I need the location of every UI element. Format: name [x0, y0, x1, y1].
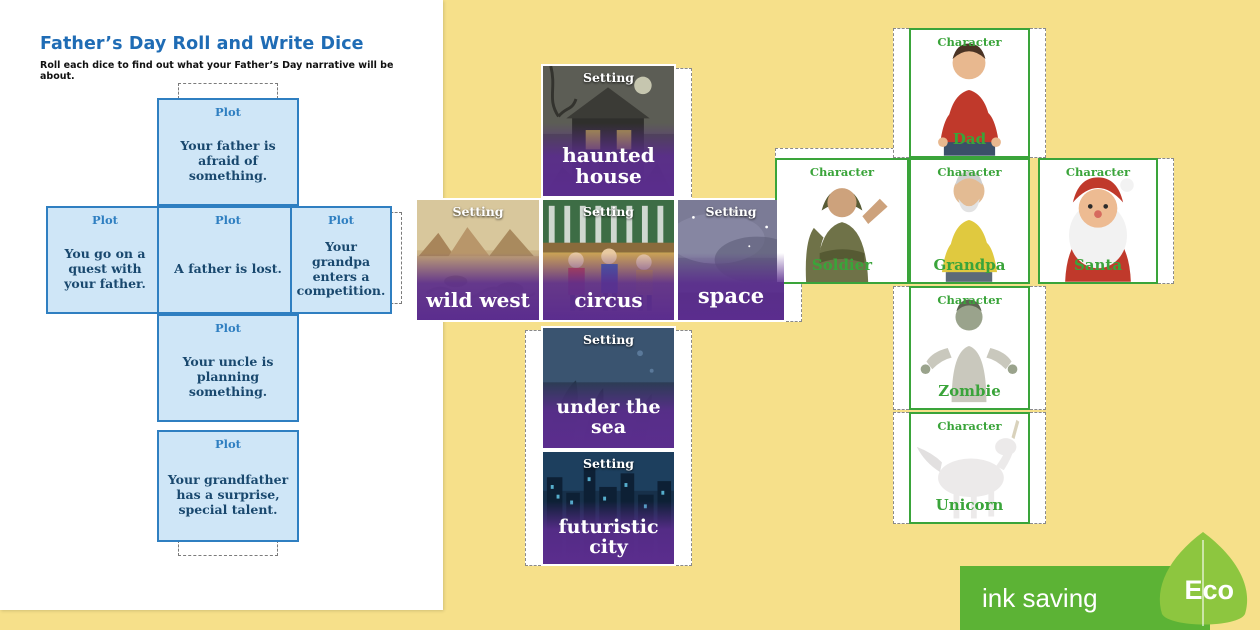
setting-face-futuristic-city: Setting futuristic city	[541, 450, 676, 566]
setting-face-header: Setting	[543, 70, 674, 85]
plot-face-bottom-2: Plot Your grandfather has a surprise, sp…	[157, 430, 299, 542]
setting-face-header: Setting	[678, 204, 784, 219]
character-face-caption: Dad	[911, 130, 1028, 148]
plot-face-header: Plot	[159, 208, 297, 227]
glue-tab	[178, 540, 278, 556]
character-face-soldier: Character Soldier	[775, 158, 909, 284]
page-title: Father’s Day Roll and Write Dice	[40, 34, 420, 54]
plot-face-middle: Plot A father is lost.	[157, 206, 299, 314]
glue-tab	[676, 330, 692, 566]
plot-face-right: Plot Your grandpa enters a competition.	[290, 206, 392, 314]
character-face-dad: Character Dad	[909, 28, 1030, 158]
setting-face-caption: circus	[543, 290, 674, 312]
character-face-caption: Santa	[1040, 256, 1156, 274]
glue-tab	[1158, 158, 1174, 284]
plot-face-header: Plot	[48, 208, 162, 227]
plot-face-text: You go on a quest with your father.	[48, 227, 162, 312]
character-face-caption: Grandpa	[911, 256, 1028, 274]
setting-face-caption: under the sea	[543, 397, 674, 438]
plot-face-text: Your father is afraid of something.	[159, 119, 297, 204]
setting-face-header: Setting	[543, 204, 674, 219]
page-subtitle: Roll each dice to find out what your Fat…	[40, 60, 430, 82]
glue-tab	[893, 412, 909, 524]
setting-face-header: Setting	[543, 332, 674, 347]
plot-face-bottom: Plot Your uncle is planning something.	[157, 314, 299, 422]
character-face-caption: Unicorn	[911, 496, 1028, 514]
character-face-santa: Character Santa	[1038, 158, 1158, 284]
eco-badge-text: ink saving	[982, 583, 1098, 614]
eco-badge-word: Eco	[1184, 575, 1234, 606]
setting-face-caption: wild west	[417, 290, 539, 312]
character-face-header: Character	[777, 165, 907, 179]
plot-dice-sheet: Father’s Day Roll and Write Dice Roll ea…	[0, 0, 443, 610]
setting-face-caption: space	[678, 285, 784, 308]
character-face-zombie: Character Zombie	[909, 286, 1030, 410]
setting-face-header: Setting	[417, 204, 539, 219]
setting-face-caption: futuristic city	[543, 517, 674, 558]
plot-face-header: Plot	[159, 316, 297, 335]
eco-badge: ink saving Eco	[960, 530, 1260, 630]
setting-face-space: Setting space	[676, 198, 786, 322]
plot-face-top: Plot Your father is afraid of something.	[157, 98, 299, 206]
setting-face-under-the-sea: Setting under the sea	[541, 326, 676, 450]
character-face-grandpa: Character Grandpa	[909, 158, 1030, 284]
plot-face-header: Plot	[159, 432, 297, 451]
glue-tab	[178, 83, 278, 99]
character-face-unicorn: Character Unicorn	[909, 412, 1030, 524]
glue-tab	[1030, 28, 1046, 158]
plot-face-header: Plot	[292, 208, 390, 227]
plot-face-left: Plot You go on a quest with your father.	[46, 206, 164, 314]
glue-tab	[893, 28, 909, 158]
character-face-header: Character	[911, 419, 1028, 433]
character-face-header: Character	[1040, 165, 1156, 179]
glue-tab	[893, 286, 909, 410]
character-face-header: Character	[911, 165, 1028, 179]
character-face-caption: Zombie	[911, 382, 1028, 400]
setting-face-circus: Setting circus	[541, 198, 676, 322]
setting-face-caption: haunted house	[543, 145, 674, 188]
glue-tab	[1030, 412, 1046, 524]
setting-face-haunted-house: Setting haunted house	[541, 64, 676, 198]
character-face-header: Character	[911, 35, 1028, 49]
plot-face-header: Plot	[159, 100, 297, 119]
character-face-caption: Soldier	[777, 256, 907, 274]
plot-face-text: Your grandfather has a surprise, special…	[159, 451, 297, 540]
plot-face-text: A father is lost.	[169, 227, 287, 312]
setting-face-wild-west: Setting wild west	[415, 198, 541, 322]
plot-face-text: Your uncle is planning something.	[159, 335, 297, 420]
plot-face-text: Your grandpa enters a competition.	[292, 227, 391, 312]
glue-tab	[1030, 286, 1046, 410]
setting-face-header: Setting	[543, 456, 674, 471]
glue-tab	[525, 330, 541, 566]
character-face-header: Character	[911, 293, 1028, 307]
